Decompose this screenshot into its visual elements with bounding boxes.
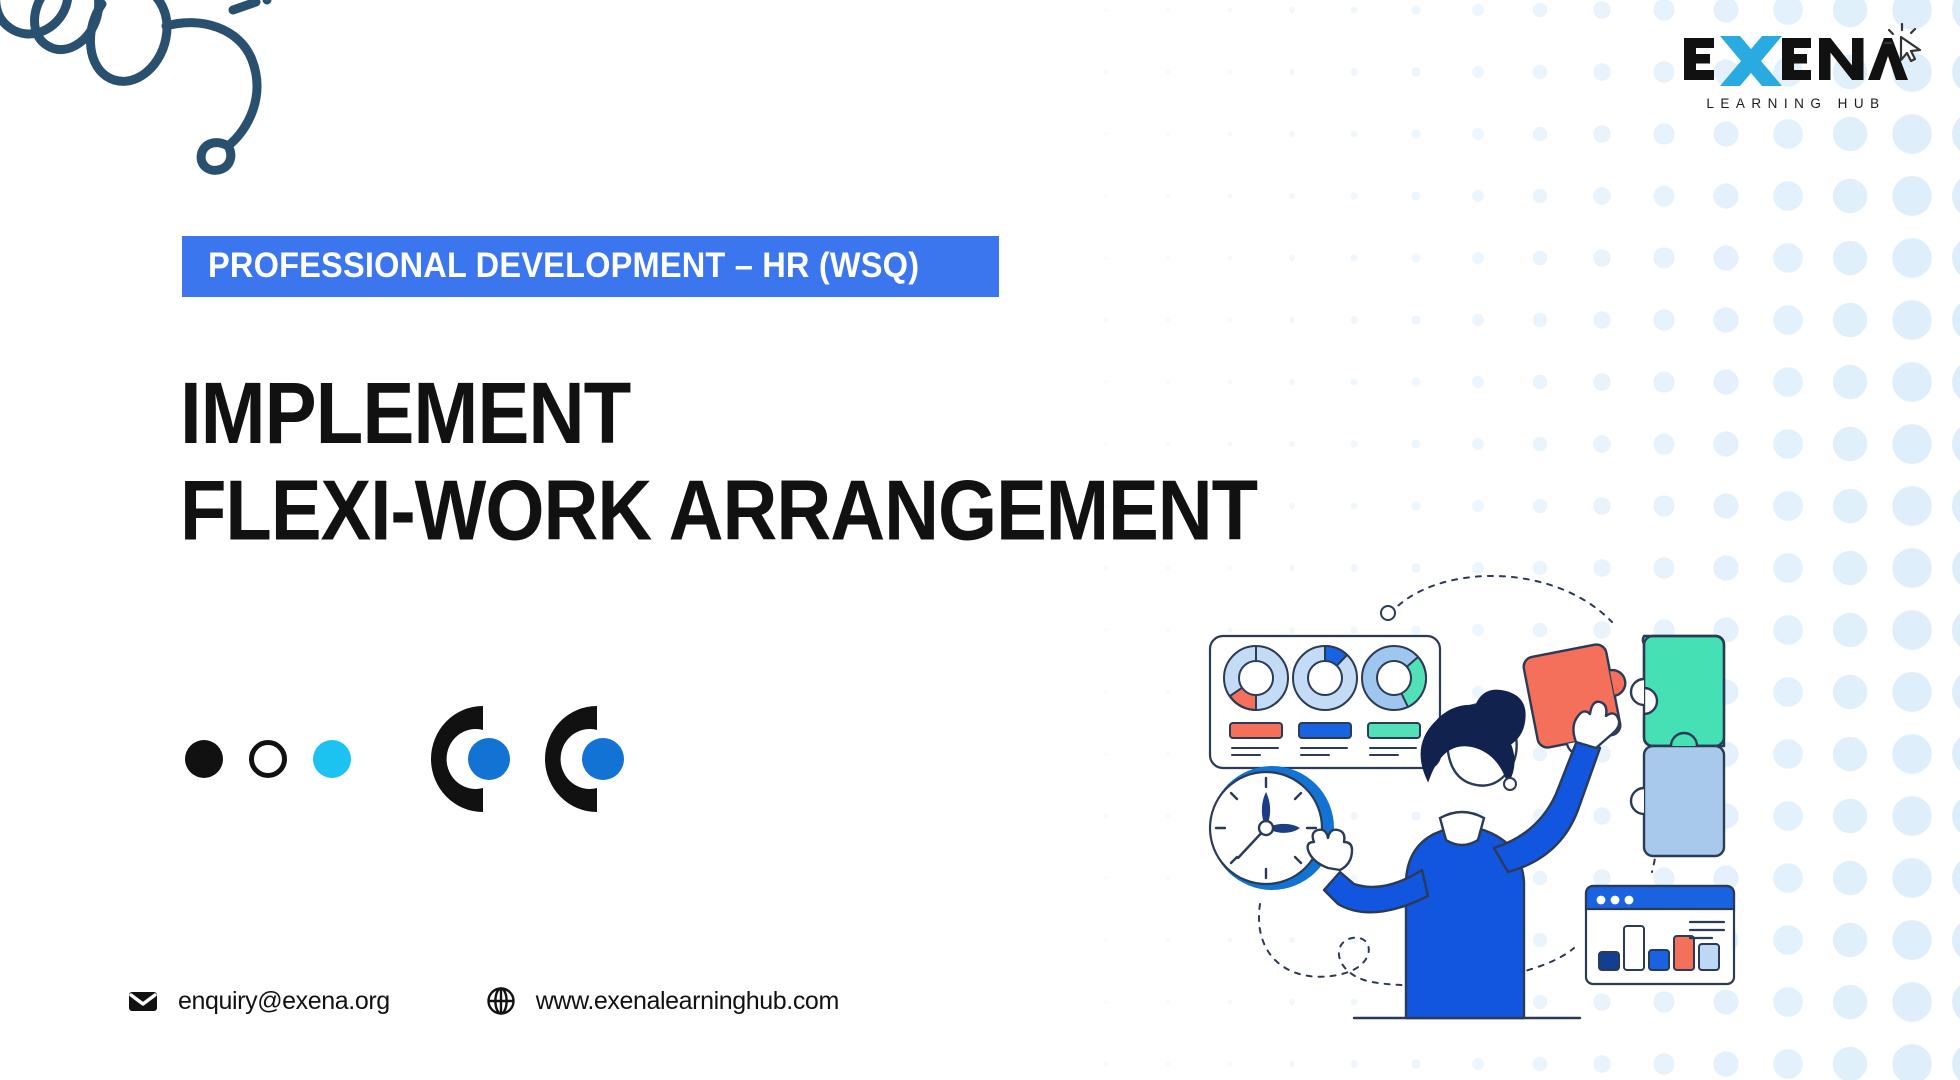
logo-tagline: LEARNING HUB: [1678, 96, 1908, 111]
headline-line-2: FLEXI-WORK ARRANGEMENT: [180, 469, 1440, 553]
globe-icon: [486, 986, 516, 1016]
footer-contacts: enquiry@exena.org www.exenalearninghub.c…: [128, 986, 839, 1016]
dot-outline-black: [249, 740, 287, 778]
contact-website-text: www.exenalearninghub.com: [536, 987, 839, 1016]
page-title: IMPLEMENT FLEXI-WORK ARRANGEMENT: [180, 370, 1440, 544]
logo-wordmark: [1678, 28, 1908, 90]
browser-window: [1586, 886, 1734, 984]
click-cursor-icon: [1882, 22, 1926, 66]
headline-line-1: IMPLEMENT: [180, 370, 1440, 456]
wall-clock: [1210, 766, 1334, 890]
dashboard-card: [1210, 636, 1440, 768]
category-tag: PROFESSIONAL DEVELOPMENT – HR (WSQ): [182, 236, 999, 297]
contact-email-text: enquiry@exena.org: [178, 987, 390, 1016]
hero-illustration: [1182, 566, 1872, 1036]
contact-email[interactable]: enquiry@exena.org: [128, 986, 390, 1016]
dot-solid-cyan: [313, 740, 351, 778]
promo-banner: LEARNING HUB PROFESSIONAL DEVELOPMENT – …: [0, 0, 1960, 1080]
c-mark-2: [527, 700, 625, 818]
brand-logo[interactable]: LEARNING HUB: [1678, 28, 1908, 111]
contact-website[interactable]: www.exenalearninghub.com: [486, 986, 839, 1016]
c-mark-1: [413, 700, 511, 818]
decorative-marks: [185, 700, 625, 818]
envelope-icon: [128, 986, 158, 1016]
category-tag-label: PROFESSIONAL DEVELOPMENT – HR (WSQ): [208, 248, 919, 283]
dot-solid-black: [185, 740, 223, 778]
squiggle-doodle-icon: [0, 0, 290, 192]
